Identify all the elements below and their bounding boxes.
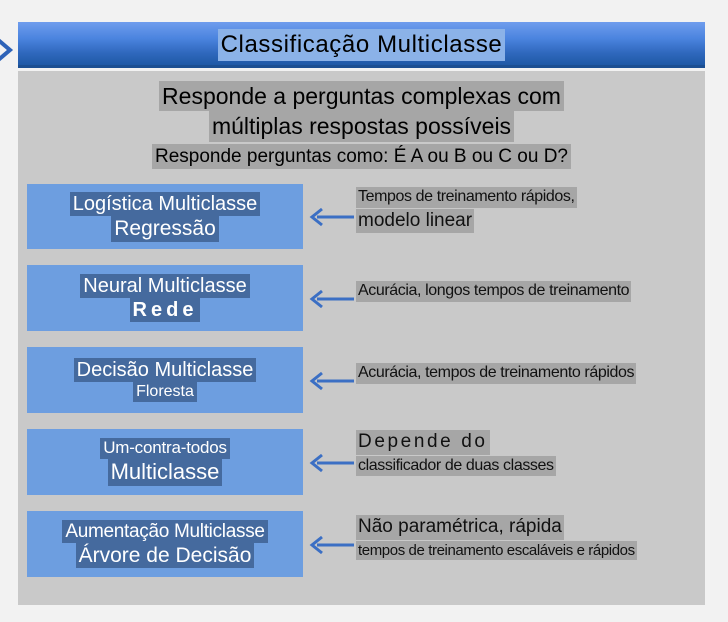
page-title-text: Classificação Multiclasse <box>218 29 506 61</box>
subtitle-line-3: Responde perguntas como: É A ou B ou C o… <box>152 144 571 169</box>
box-line-1: Aumentação Multiclasse <box>62 520 267 543</box>
note-line-2-wrap: modelo linear <box>356 209 706 234</box>
note-line-1-wrap: Depende do <box>356 430 706 455</box>
note-line-2-wrap: classificador de duas classes <box>356 456 706 477</box>
note-logistic-regression: Tempos de treinamento rápidos, modelo li… <box>356 187 706 233</box>
box-line-2: Floresta <box>133 382 197 402</box>
left-arrow-icon <box>308 534 354 556</box>
subtitle-line-2: múltiplas respostas possíveis <box>209 111 514 141</box>
note-line-1: Acurácia, tempos de treinamento rápidos <box>356 363 636 384</box>
subtitle-line-1: Responde a perguntas complexas com <box>159 81 564 111</box>
note-neural-network: Acurácia, longos tempos de treinamento <box>356 281 706 302</box>
row-neural-network: Neural Multiclasse Rede Acurácia, longos… <box>18 265 705 331</box>
box-line-1: Logística Multiclasse <box>70 192 261 216</box>
slide-header-band: Classificação Multiclasse <box>18 22 705 68</box>
algorithm-box-logistic-regression[interactable]: Logística Multiclasse Regressão <box>27 184 303 249</box>
box-line-2: Rede <box>130 298 201 322</box>
box-line-2: Árvore de Decisão <box>76 543 255 569</box>
subtitle-line-3-wrap: Responde perguntas como: É A ou B ou C o… <box>18 142 705 169</box>
row-one-vs-all: Um-contra-todos Multiclasse Depende do c… <box>18 429 705 495</box>
note-boosted-decision-tree: Não paramétrica, rápida tempos de treina… <box>356 515 706 560</box>
note-decision-forest: Acurácia, tempos de treinamento rápidos <box>356 363 706 384</box>
algorithm-box-neural-network[interactable]: Neural Multiclasse Rede <box>27 265 303 331</box>
subtitle-line-2-wrap: múltiplas respostas possíveis <box>18 111 705 141</box>
note-line-2-wrap: tempos de treinamento escaláveis e rápid… <box>356 541 706 561</box>
note-line-1: Não paramétrica, rápida <box>356 515 564 540</box>
note-line-2: tempos de treinamento escaláveis e rápid… <box>356 541 637 561</box>
subtitle-line-1-wrap: Responde a perguntas complexas com <box>18 81 705 111</box>
box-line-1: Decisão Multiclasse <box>74 358 257 382</box>
row-boosted-decision-tree: Aumentação Multiclasse Árvore de Decisão… <box>18 511 705 577</box>
left-arrow-icon <box>308 452 354 474</box>
note-line-1: Acurácia, longos tempos de treinamento <box>356 281 631 302</box>
row-logistic-regression: Logística Multiclasse Regressão Tempos d… <box>18 184 705 249</box>
row-decision-forest: Decisão Multiclasse Floresta Acurácia, t… <box>18 347 705 413</box>
note-line-1: Tempos de treinamento rápidos, <box>356 187 577 208</box>
note-line-1-wrap: Não paramétrica, rápida <box>356 515 706 540</box>
slide-canvas: Classificação Multiclasse Responde a per… <box>0 0 728 622</box>
note-line-1-wrap: Acurácia, tempos de treinamento rápidos <box>356 363 706 384</box>
note-line-1: Depende do <box>356 430 490 455</box>
box-line-1: Um-contra-todos <box>100 438 230 459</box>
note-line-1-wrap: Acurácia, longos tempos de treinamento <box>356 281 706 302</box>
slide-body-panel: Responde a perguntas complexas com múlti… <box>18 71 705 605</box>
algorithm-box-decision-forest[interactable]: Decisão Multiclasse Floresta <box>27 347 303 413</box>
note-line-1-wrap: Tempos de treinamento rápidos, <box>356 187 706 208</box>
box-line-2: Regressão <box>111 216 219 242</box>
left-arrow-icon <box>308 206 354 228</box>
algorithm-box-boosted-decision-tree[interactable]: Aumentação Multiclasse Árvore de Decisão <box>27 511 303 577</box>
note-one-vs-all: Depende do classificador de duas classes <box>356 430 706 476</box>
left-arrow-icon <box>308 370 354 392</box>
algorithm-box-one-vs-all[interactable]: Um-contra-todos Multiclasse <box>27 429 303 495</box>
subtitle-block: Responde a perguntas complexas com múlti… <box>18 81 705 169</box>
note-line-2: modelo linear <box>356 209 474 234</box>
page-title: Classificação Multiclasse <box>18 22 705 68</box>
box-line-1: Neural Multiclasse <box>80 274 249 298</box>
note-line-2: classificador de duas classes <box>356 456 556 477</box>
box-line-2: Multiclasse <box>108 459 223 486</box>
left-arrow-icon <box>308 288 354 310</box>
